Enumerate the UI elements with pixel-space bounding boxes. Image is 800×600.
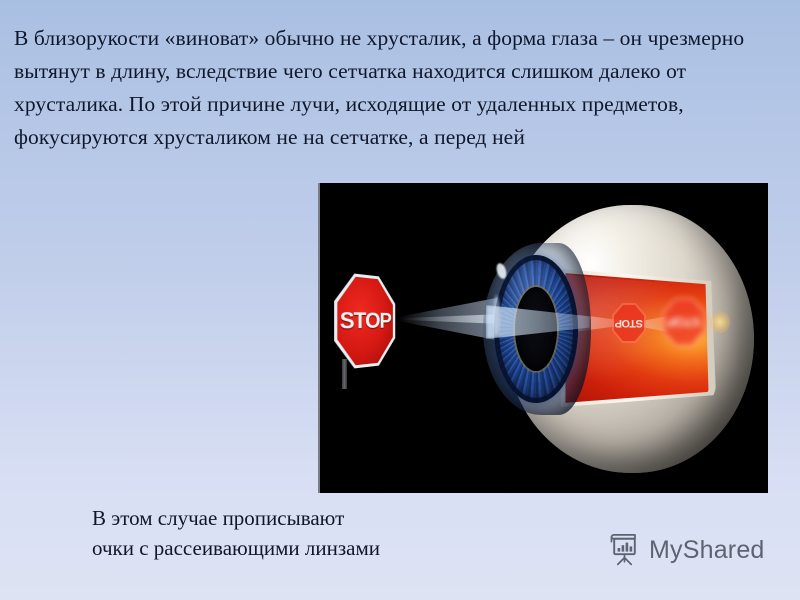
eye-illustration: STOP STOP STOP [318,183,768,493]
blurred-retinal-image: STOP [662,297,706,347]
stop-sign-post [342,359,347,389]
slide-caption-text: В этом случае прописывают очки с рассеив… [92,503,380,563]
focused-inverted-image: STOP [612,303,646,343]
slide-body-text: В близорукости «виноват» обычно не хруст… [14,22,792,154]
optic-disc [710,311,730,333]
stop-sign: STOP [334,271,395,371]
slide-canvas: В близорукости «виноват» обычно не хруст… [0,0,800,600]
figure-left-edge-highlight [318,183,320,493]
presentation-chart-icon [608,534,642,566]
myshared-logo-text: MyShared [649,538,765,563]
blurred-image-label: STOP [662,315,706,330]
focused-image-label: STOP [612,317,646,329]
stop-sign-label: STOP [334,307,395,335]
myshared-logo[interactable]: MyShared [608,534,765,566]
cornea-highlight-lower [493,295,500,335]
